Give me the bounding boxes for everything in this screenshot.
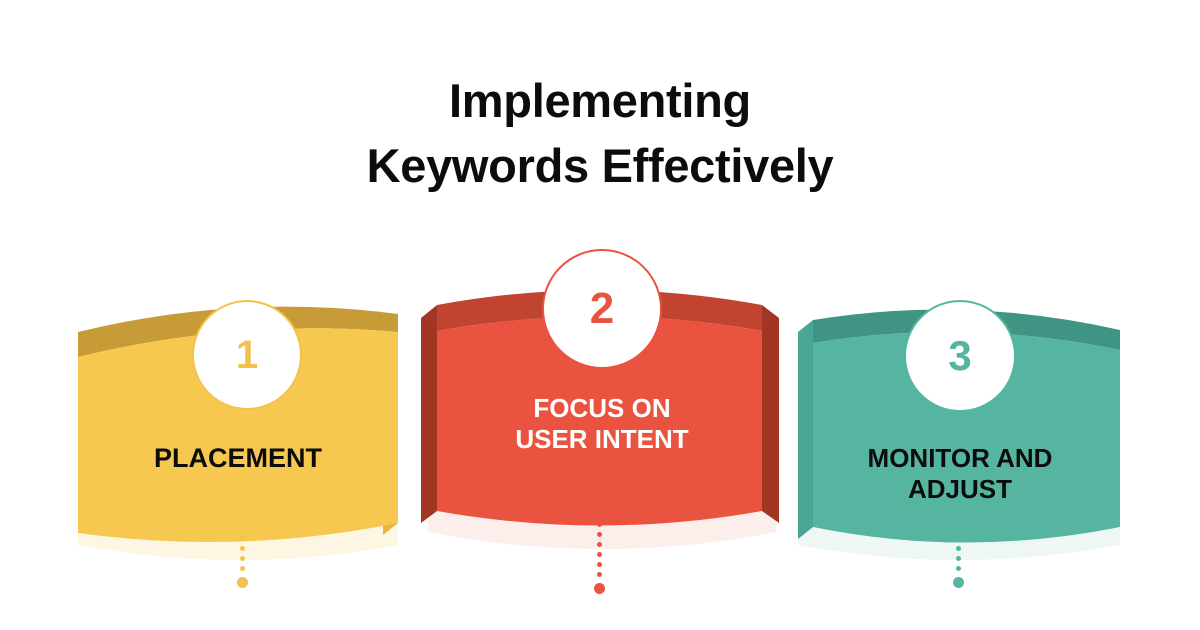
connector-dot	[956, 566, 961, 571]
connector-dot	[240, 546, 245, 551]
connector-dot	[956, 546, 961, 551]
connector-dot	[597, 512, 602, 517]
connector-dots-3	[954, 536, 963, 588]
step-label-3: MONITOR AND ADJUST	[798, 443, 1122, 505]
connector-dot	[240, 536, 245, 541]
step-number-badge-3[interactable]: 3	[904, 300, 1016, 412]
connector-dot	[597, 522, 602, 527]
step-number-badge-1[interactable]: 1	[192, 300, 302, 410]
step-number-label-2: 2	[590, 287, 614, 331]
connector-dot	[956, 556, 961, 561]
connector-end-dot	[237, 577, 248, 588]
banner-3-side-face	[798, 320, 813, 539]
step-number-label-3: 3	[948, 335, 971, 377]
connector-dot	[597, 562, 602, 567]
connector-dots-2	[595, 512, 604, 594]
connector-dots-1	[238, 536, 247, 588]
connector-dot	[597, 542, 602, 547]
connector-end-dot	[594, 583, 605, 594]
connector-dot	[597, 532, 602, 537]
connector-dot	[240, 566, 245, 571]
connector-dot	[956, 536, 961, 541]
step-number-label-1: 1	[236, 335, 258, 375]
step-label-2: FOCUS ON USER INTENT	[428, 393, 776, 455]
connector-dot	[597, 552, 602, 557]
infographic-canvas: Implementing Keywords Effectively	[0, 0, 1200, 630]
connector-dot	[240, 556, 245, 561]
connector-end-dot	[953, 577, 964, 588]
step-label-1: PLACEMENT	[78, 443, 398, 474]
connector-dot	[597, 572, 602, 577]
step-number-badge-2[interactable]: 2	[542, 249, 662, 369]
